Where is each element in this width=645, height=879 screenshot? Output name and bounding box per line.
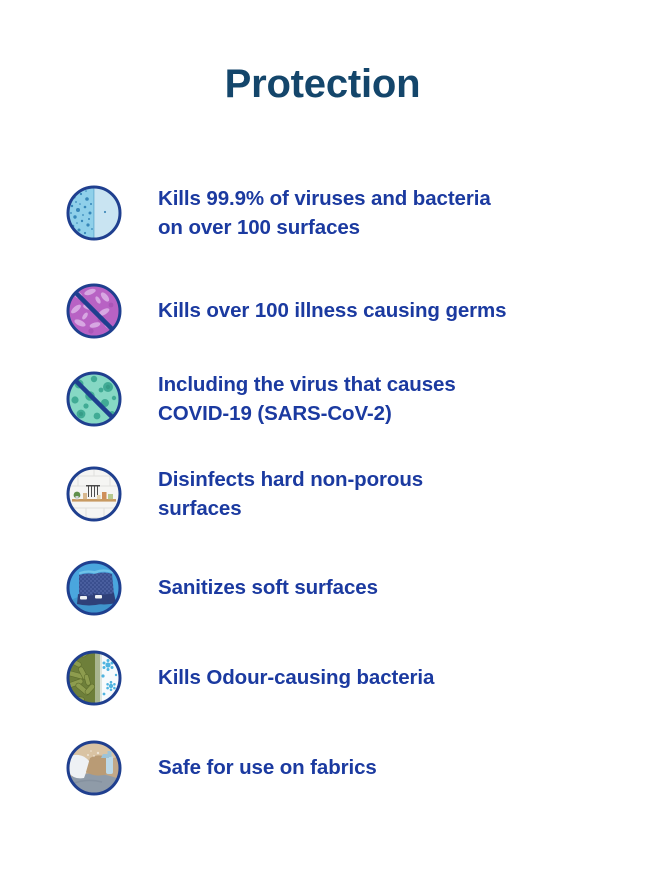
spray-fabric-icon [64,738,124,798]
no-germs-purple-icon [64,281,124,341]
feature-row: Kills Odour-causing bacteria [0,646,645,736]
no-virus-teal-icon [64,369,124,429]
kitchen-tile-surface-icon [64,464,124,524]
fabric-seats-icon [64,558,124,618]
page-title: Protection [0,62,645,106]
feature-label: Kills over 100 illness causing germs [158,279,506,325]
petri-dish-split-icon [64,183,124,243]
feature-label: Disinfects hard non-porous surfaces [158,462,423,523]
feature-line: Disinfects hard non-porous [158,465,423,494]
feature-row: Kills over 100 illness causing germs [0,279,645,367]
feature-label: Kills 99.9% of viruses and bacteria on o… [158,181,491,242]
feature-label: Safe for use on fabrics [158,736,377,782]
feature-row: Including the virus that causes COVID-19… [0,367,645,462]
feature-row: Sanitizes soft surfaces [0,556,645,646]
protection-panel: Protection [0,0,645,879]
odour-bacteria-icon [64,648,124,708]
feature-row: Kills 99.9% of viruses and bacteria on o… [0,181,645,279]
feature-line: Safe for use on fabrics [158,753,377,782]
feature-line: on over 100 surfaces [158,213,491,242]
feature-line: Including the virus that causes [158,370,456,399]
feature-line: COVID-19 (SARS-CoV-2) [158,399,456,428]
feature-row: Safe for use on fabrics [0,736,645,826]
feature-line: surfaces [158,494,423,523]
feature-line: Kills over 100 illness causing germs [158,296,506,325]
feature-row: Disinfects hard non-porous surfaces [0,462,645,556]
feature-label: Kills Odour-causing bacteria [158,646,434,692]
feature-label: Including the virus that causes COVID-19… [158,367,456,428]
feature-line: Sanitizes soft surfaces [158,573,378,602]
feature-line: Kills Odour-causing bacteria [158,663,434,692]
feature-list: Kills 99.9% of viruses and bacteria on o… [0,181,645,826]
feature-line: Kills 99.9% of viruses and bacteria [158,184,491,213]
feature-label: Sanitizes soft surfaces [158,556,378,602]
